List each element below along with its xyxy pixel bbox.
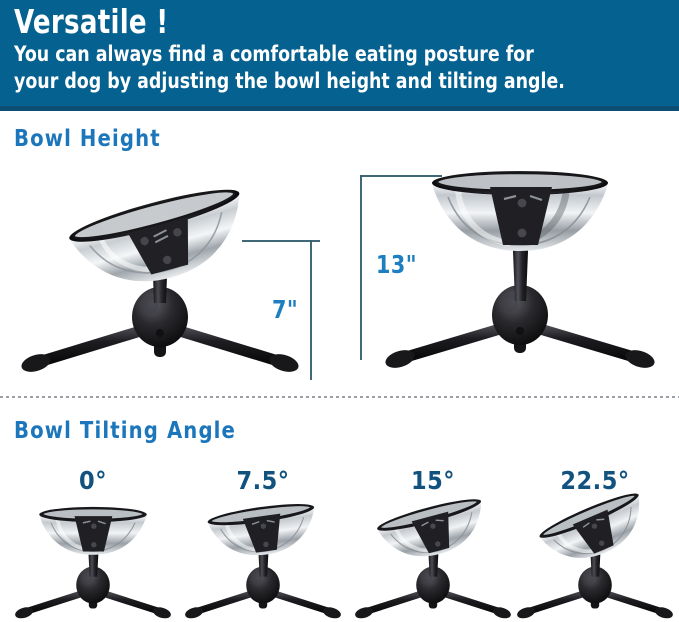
low-stand-artwork	[10, 175, 310, 385]
tilt-artwork-1	[178, 496, 348, 622]
tilt-label-3: 22.5°	[510, 466, 679, 495]
header-text-block: Versatile ! You can always find a comfor…	[14, 4, 674, 94]
tilt-cell-0: 0°	[8, 466, 178, 622]
tilt-artwork-0	[8, 496, 178, 622]
tilt-stand-artwork	[510, 496, 679, 622]
high-stand-artwork	[370, 165, 670, 380]
tilt-cell-3: 22.5°	[510, 466, 679, 622]
low-stand-leader-line	[242, 240, 320, 242]
tilt-artwork-2	[348, 496, 518, 622]
tilt-cell-1: 7.5°	[178, 466, 348, 622]
section-title-bowl-tilting-angle: Bowl Tilting Angle	[14, 418, 236, 444]
section-title-bowl-height: Bowl Height	[14, 126, 161, 152]
tilt-stand-artwork	[348, 496, 518, 622]
tilt-cell-2: 15°	[348, 466, 518, 622]
bowl-height-illustrations: 7" 13"	[0, 155, 679, 385]
bowl-tilt-illustrations: 0°	[0, 466, 679, 622]
high-stand-dimension-line	[360, 175, 362, 360]
tilt-stand-artwork	[8, 496, 178, 622]
low-stand-figure: 7"	[10, 175, 310, 385]
low-stand-measurement-label: 7"	[272, 295, 298, 324]
subline-first: You can always find a comfortable eating…	[14, 42, 608, 67]
infographic-page: Versatile ! You can always find a comfor…	[0, 0, 679, 622]
tilt-label-0: 0°	[8, 466, 178, 495]
low-stand-dimension-line	[310, 240, 312, 380]
tilt-artwork-3	[510, 496, 679, 622]
tilt-stand-artwork	[178, 496, 348, 622]
header-underline	[0, 106, 679, 111]
subline-second: your dog by adjusting the bowl height an…	[14, 69, 608, 94]
headline: Versatile !	[14, 4, 595, 40]
tilt-label-1: 7.5°	[178, 466, 348, 495]
section-divider	[0, 396, 679, 398]
tilt-label-2: 15°	[348, 466, 518, 495]
